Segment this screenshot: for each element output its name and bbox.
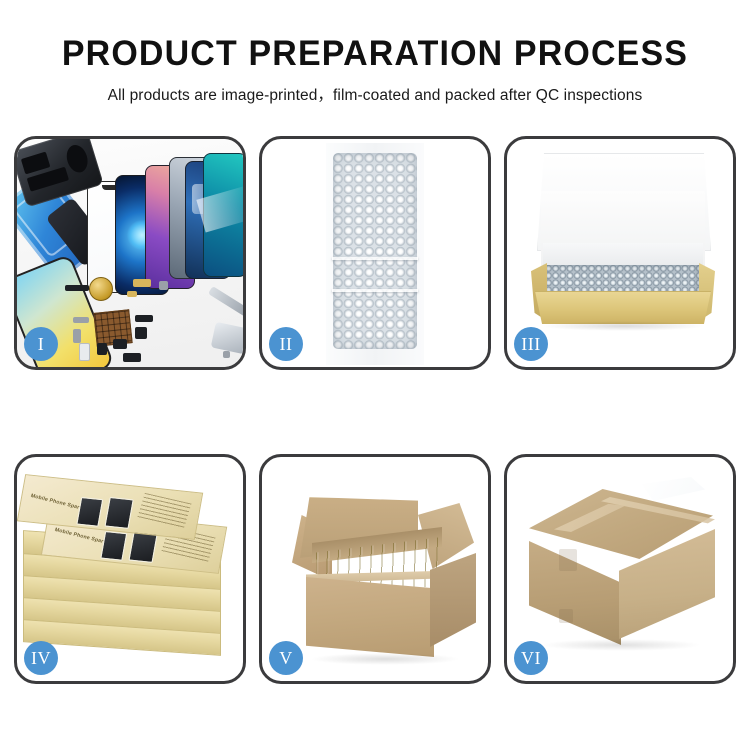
step-badge-2: II	[269, 327, 303, 361]
step-image-3: III	[507, 139, 733, 367]
inner-box-bubble-contents	[545, 265, 699, 295]
retail-box-window-2b	[128, 531, 157, 563]
page-subtitle: All products are image-printed，film-coat…	[0, 73, 750, 105]
step-panel-2: II	[259, 136, 491, 370]
step-badge-1: I	[24, 327, 58, 361]
header: PRODUCT PREPARATION PROCESS All products…	[0, 0, 750, 105]
sealed-carton-flap-mark-top	[559, 549, 577, 571]
product-preparation-infographic: PRODUCT PREPARATION PROCESS All products…	[0, 0, 750, 750]
step-panel-6: VI	[504, 454, 736, 684]
retail-box-window-1a	[76, 497, 103, 527]
step-panel-5: V	[259, 454, 491, 684]
step-image-5: V	[262, 457, 488, 681]
phone-teal	[203, 153, 243, 277]
step-image-1: I	[17, 139, 243, 367]
inner-box-shadow	[541, 321, 705, 331]
retail-box-window-2a	[100, 531, 127, 561]
step-panel-1: I	[14, 136, 246, 370]
step-image-2: II	[262, 139, 488, 367]
bubble-wrap-seam-2	[332, 289, 418, 292]
camera-module	[64, 142, 91, 175]
part-bracket-b	[73, 329, 81, 343]
retail-box-speclines-1	[137, 493, 191, 529]
step-panel-4: Mobile Phone Spare Parts Mobile Phone Sp…	[14, 454, 246, 684]
carton-front-face	[306, 577, 434, 657]
step-image-4: Mobile Phone Spare Parts Mobile Phone Sp…	[17, 457, 243, 681]
step-panel-3: III	[504, 136, 736, 370]
sealed-carton-flap-mark-bottom	[559, 609, 573, 623]
part-connector-a	[135, 315, 153, 322]
part-speaker-mesh	[97, 343, 107, 355]
part-flex-cable-gold	[133, 279, 151, 287]
part-screw-a	[159, 281, 168, 290]
carton-shadow	[310, 653, 460, 665]
part-bracket-a	[73, 317, 89, 323]
step-badge-6: VI	[514, 641, 548, 675]
part-earpiece	[123, 353, 141, 362]
battery-cell	[21, 152, 51, 175]
part-vibrator	[113, 339, 127, 349]
inner-box-front-wall	[535, 291, 711, 324]
speaker-coin-part	[89, 277, 113, 301]
bubble-wrap-bubbles	[333, 153, 417, 349]
bubble-wrap-seam-1	[332, 257, 418, 260]
sealed-carton-film-edge	[635, 477, 705, 501]
step-image-6: VI	[507, 457, 733, 681]
step-badge-5: V	[269, 641, 303, 675]
part-screw-b	[223, 351, 230, 358]
step-badge-3: III	[514, 327, 548, 361]
retail-box-window-1b	[104, 497, 133, 529]
page-title: PRODUCT PREPARATION PROCESS	[11, 0, 739, 73]
step-badge-4: IV	[24, 641, 58, 675]
part-antenna-strip	[65, 285, 89, 291]
part-button-flex	[127, 291, 137, 297]
part-connector-b	[135, 327, 147, 339]
part-sim-tray	[79, 343, 90, 361]
steps-grid: I II III	[14, 136, 736, 684]
sealed-carton-shadow	[541, 639, 701, 651]
